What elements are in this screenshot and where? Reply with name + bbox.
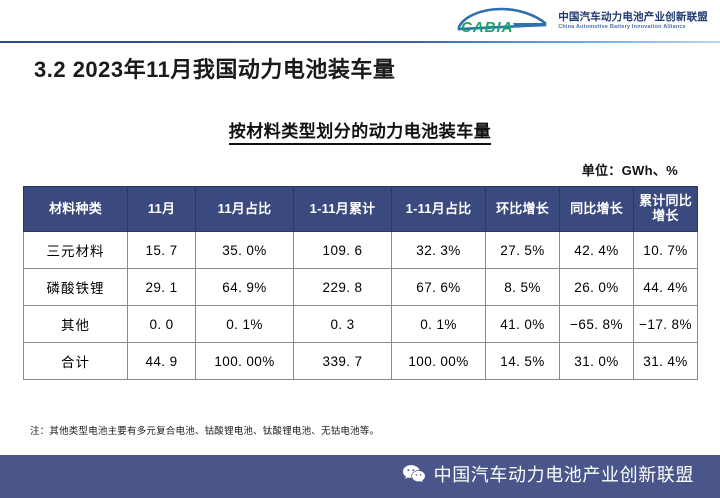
header-divider <box>0 41 720 43</box>
table-row: 三元材料 15. 7 35. 0% 109. 6 32. 3% 27. 5% 4… <box>24 232 698 269</box>
cell-value: 100. 00% <box>196 343 294 380</box>
cell-value: 67. 6% <box>392 269 486 306</box>
cell-category: 合计 <box>24 343 128 380</box>
cell-category: 磷酸铁锂 <box>24 269 128 306</box>
cell-value: 15. 7 <box>128 232 196 269</box>
cell-value: 0. 3 <box>294 306 392 343</box>
car-outline-icon: CABIA <box>453 6 549 36</box>
page-subtitle-text: 按材料类型划分的动力电池装车量 <box>229 122 492 145</box>
column-header-yoy-growth: 同比增长 <box>560 187 634 232</box>
column-header-ytd-yoy-growth: 累计同比增长 <box>634 187 698 232</box>
cell-value: 26. 0% <box>560 269 634 306</box>
table-row: 磷酸铁锂 29. 1 64. 9% 229. 8 67. 6% 8. 5% 26… <box>24 269 698 306</box>
cell-value: 42. 4% <box>560 232 634 269</box>
cell-value: 0. 1% <box>392 306 486 343</box>
slide-footer: 中国汽车动力电池产业创新联盟 <box>0 455 720 498</box>
cell-value: 109. 6 <box>294 232 392 269</box>
table-header-row: 材料种类 11月 11月占比 1-11月累计 1-11月占比 环比增长 同比增长… <box>24 187 698 232</box>
wechat-icon <box>402 464 426 484</box>
cell-value: 31. 0% <box>560 343 634 380</box>
cell-value: 32. 3% <box>392 232 486 269</box>
cell-value: 44. 4% <box>634 269 698 306</box>
column-header-material: 材料种类 <box>24 187 128 232</box>
alliance-name-cn: 中国汽车动力电池产业创新联盟 <box>558 12 708 23</box>
battery-installation-table: 材料种类 11月 11月占比 1-11月累计 1-11月占比 环比增长 同比增长… <box>23 186 697 380</box>
cell-value: 27. 5% <box>486 232 560 269</box>
table-row: 合计 44. 9 100. 00% 339. 7 100. 00% 14. 5%… <box>24 343 698 380</box>
alliance-name-en: China Automotive Battery Innovation Alli… <box>558 25 708 31</box>
column-header-ytd-share: 1-11月占比 <box>392 187 486 232</box>
cell-value: 339. 7 <box>294 343 392 380</box>
cell-value: 29. 1 <box>128 269 196 306</box>
cell-value: −17. 8% <box>634 306 698 343</box>
page-subtitle: 按材料类型划分的动力电池装车量 <box>0 117 720 142</box>
alliance-logo: CABIA 中国汽车动力电池产业创新联盟 China Automotive Ba… <box>453 6 708 36</box>
svg-text:CABIA: CABIA <box>461 19 514 36</box>
cell-value: 100. 00% <box>392 343 486 380</box>
column-header-ytd-total: 1-11月累计 <box>294 187 392 232</box>
cell-value: −65. 8% <box>560 306 634 343</box>
cell-value: 64. 9% <box>196 269 294 306</box>
cell-value: 8. 5% <box>486 269 560 306</box>
cell-value: 0. 1% <box>196 306 294 343</box>
cell-value: 10. 7% <box>634 232 698 269</box>
cell-value: 35. 0% <box>196 232 294 269</box>
footer-alliance-name: 中国汽车动力电池产业创新联盟 <box>434 461 694 487</box>
cell-value: 14. 5% <box>486 343 560 380</box>
cell-value: 41. 0% <box>486 306 560 343</box>
unit-label: 单位：GWh、% <box>582 160 678 179</box>
page-title: 3.2 2023年11月我国动力电池装车量 <box>34 52 395 84</box>
cell-category: 其他 <box>24 306 128 343</box>
column-header-november: 11月 <box>128 187 196 232</box>
cell-value: 31. 4% <box>634 343 698 380</box>
table-footnote: 注：其他类型电池主要有多元复合电池、钴酸锂电池、钛酸锂电池、无钴电池等。 <box>30 423 379 437</box>
column-header-mom-growth: 环比增长 <box>486 187 560 232</box>
alliance-logo-text: 中国汽车动力电池产业创新联盟 China Automotive Battery … <box>558 12 708 31</box>
table-row: 其他 0. 0 0. 1% 0. 3 0. 1% 41. 0% −65. 8% … <box>24 306 698 343</box>
column-header-november-share: 11月占比 <box>196 187 294 232</box>
footer-brand: 中国汽车动力电池产业创新联盟 <box>402 461 694 487</box>
slide-header: CABIA 中国汽车动力电池产业创新联盟 China Automotive Ba… <box>0 0 720 42</box>
cell-value: 44. 9 <box>128 343 196 380</box>
cell-value: 229. 8 <box>294 269 392 306</box>
cabia-logo-mark: CABIA <box>453 6 549 36</box>
cell-value: 0. 0 <box>128 306 196 343</box>
cell-category: 三元材料 <box>24 232 128 269</box>
